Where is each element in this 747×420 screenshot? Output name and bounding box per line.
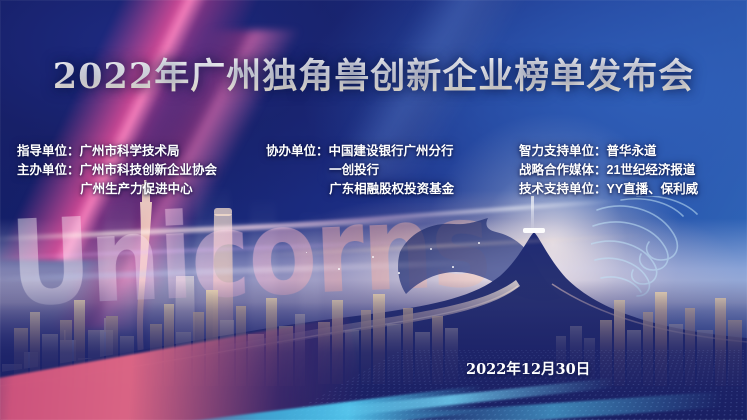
poster-frame bbox=[0, 0, 747, 420]
poster-canvas: Unicorns bbox=[0, 0, 747, 420]
